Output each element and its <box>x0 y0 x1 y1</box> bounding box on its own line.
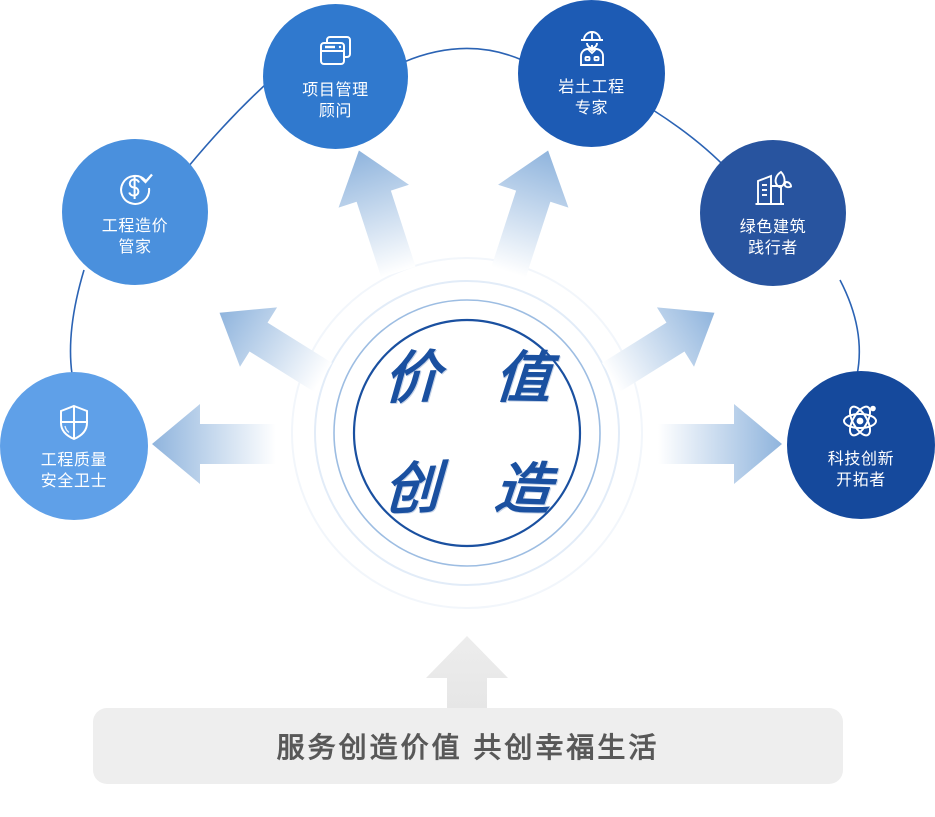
node-green-building[interactable]: 绿色建筑 践行者 <box>700 140 846 286</box>
arrow-to-cost <box>201 283 342 407</box>
atom-icon <box>839 400 883 442</box>
node-tech-innovation[interactable]: 科技创新 开拓者 <box>787 371 935 519</box>
arrow-to-geo <box>473 139 583 284</box>
center-calligraphy: 价 值 创 造 <box>356 322 578 544</box>
arc-pm-geo <box>404 48 522 62</box>
center-char-1: 价 <box>382 349 440 407</box>
arrow-to-qual <box>152 404 276 484</box>
node-geotechnical-expert[interactable]: 岩土工程 专家 <box>518 0 665 147</box>
shield-icon <box>53 401 95 443</box>
arc-green-tech <box>840 280 859 375</box>
center-char-4: 造 <box>492 460 553 518</box>
node-label: 项目管理 顾问 <box>302 80 368 122</box>
arrow-to-green <box>592 283 733 407</box>
arrow-to-pm <box>324 139 434 284</box>
node-label: 岩土工程 专家 <box>558 77 624 119</box>
dollar-check-icon <box>114 167 156 209</box>
stacked-cards-icon <box>315 31 357 73</box>
node-project-management-consultant[interactable]: 项目管理 顾问 <box>263 4 408 149</box>
hardhat-worker-icon <box>571 28 613 70</box>
building-leaf-icon <box>751 168 795 210</box>
arrow-to-tech <box>658 404 782 484</box>
center-char-3: 创 <box>382 459 440 518</box>
arc-cost-pm <box>188 75 276 167</box>
node-label: 绿色建筑 践行者 <box>740 217 806 259</box>
arc-qual-cost <box>71 270 85 374</box>
node-cost-management[interactable]: 工程造价 管家 <box>62 139 208 285</box>
node-quality-safety[interactable]: 工程质量 安全卫士 <box>0 372 148 520</box>
node-label: 工程造价 管家 <box>102 216 168 258</box>
slogan-text: 服务创造价值 共创幸福生活 <box>277 726 660 766</box>
node-label: 科技创新 开拓者 <box>828 449 894 491</box>
node-label: 工程质量 安全卫士 <box>41 450 107 492</box>
center-char-2: 值 <box>493 349 553 406</box>
infographic-canvas: 项目管理 顾问 岩土工程 专家 <box>0 0 935 817</box>
slogan-banner: 服务创造价值 共创幸福生活 <box>93 708 843 784</box>
